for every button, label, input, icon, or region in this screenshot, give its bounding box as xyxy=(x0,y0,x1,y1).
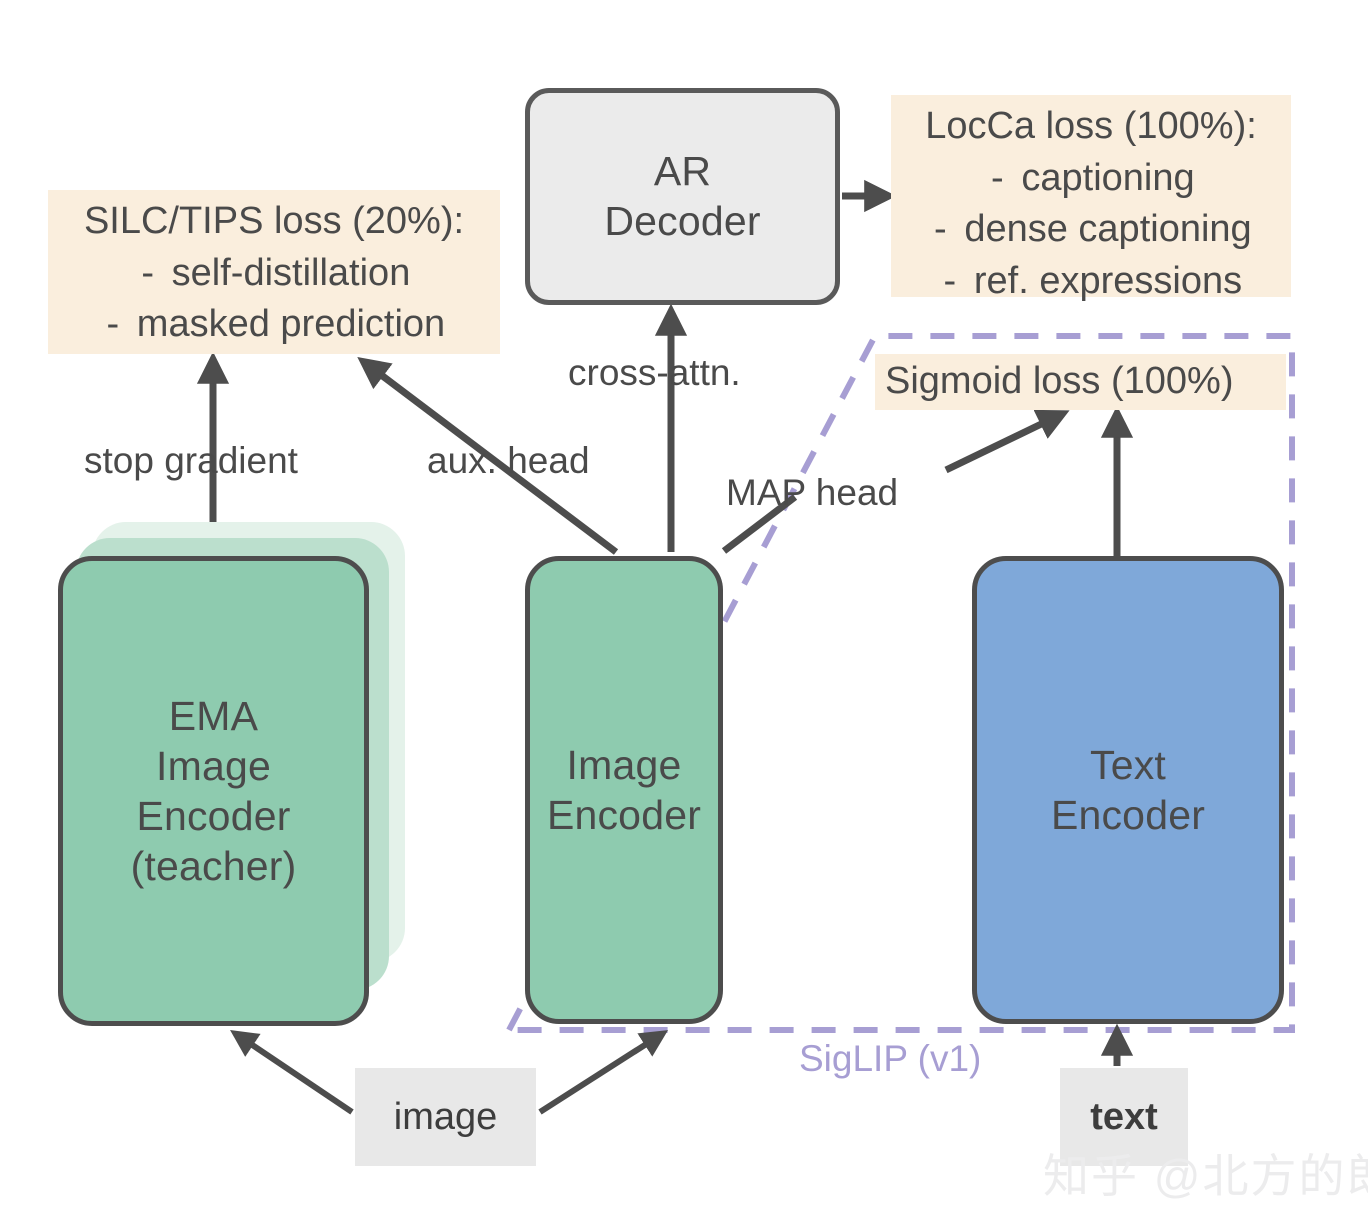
ema-image-encoder-line-0: EMA xyxy=(63,691,364,741)
edge-label-stop-gradient: stop gradient xyxy=(84,440,298,482)
ar-decoder-line-0: AR xyxy=(530,147,835,196)
silc-tips-loss-bullet-1: -masked prediction xyxy=(62,299,486,351)
silc-tips-loss-bullet-1-text: masked prediction xyxy=(137,303,445,345)
siglip-group-label: SigLIP (v1) xyxy=(799,1038,981,1080)
sigmoid-loss-box: Sigmoid loss (100%) xyxy=(875,354,1286,410)
bullet-dash-icon: - xyxy=(940,256,974,308)
arrow-map-head xyxy=(946,414,1062,470)
ar-decoder-line-1: Decoder xyxy=(530,197,835,246)
ar-decoder-block[interactable]: AR Decoder xyxy=(525,88,840,305)
ema-image-encoder-label: EMA Image Encoder (teacher) xyxy=(63,691,364,891)
image-encoder-block[interactable]: Image Encoder xyxy=(525,556,723,1024)
locca-loss-bullet-0: -captioning xyxy=(905,153,1277,205)
edge-label-cross-attn: cross-attn. xyxy=(568,352,741,394)
ar-decoder-label: AR Decoder xyxy=(530,147,835,245)
locca-loss-bullet-0-text: captioning xyxy=(1021,157,1194,199)
image-encoder-line-0: Image xyxy=(530,740,718,790)
edge-label-aux-head: aux. head xyxy=(427,440,590,482)
silc-tips-loss-title: SILC/TIPS loss (20%): xyxy=(62,196,486,248)
bullet-dash-icon: - xyxy=(138,248,172,300)
image-encoder-line-1: Encoder xyxy=(530,790,718,840)
locca-loss-bullet-2-text: ref. expressions xyxy=(974,260,1242,302)
ema-image-encoder-line-3: (teacher) xyxy=(63,841,364,891)
image-encoder-label: Image Encoder xyxy=(530,740,718,840)
ema-image-encoder-line-1: Image xyxy=(63,741,364,791)
locca-loss-box: LocCa loss (100%): -captioning -dense ca… xyxy=(891,95,1291,297)
locca-loss-bullet-1-text: dense captioning xyxy=(964,208,1251,250)
bullet-dash-icon: - xyxy=(930,204,964,256)
edge-label-map-head: MAP head xyxy=(726,472,898,514)
sigmoid-loss-title: Sigmoid loss (100%) xyxy=(885,356,1233,408)
silc-tips-loss-box: SILC/TIPS loss (20%): -self-distillation… xyxy=(48,190,500,354)
bullet-dash-icon: - xyxy=(987,153,1021,205)
ema-image-encoder-block[interactable]: EMA Image Encoder (teacher) xyxy=(58,556,369,1026)
locca-loss-bullet-2: -ref. expressions xyxy=(905,256,1277,308)
text-encoder-block[interactable]: Text Encoder xyxy=(972,556,1284,1024)
text-encoder-label: Text Encoder xyxy=(977,740,1279,840)
text-encoder-line-0: Text xyxy=(977,740,1279,790)
ema-image-encoder-line-2: Encoder xyxy=(63,791,364,841)
diagram-canvas: SILC/TIPS loss (20%): -self-distillation… xyxy=(0,0,1368,1212)
bullet-dash-icon: - xyxy=(103,299,137,351)
arrow-image-to-image-encoder xyxy=(540,1034,662,1112)
locca-loss-title: LocCa loss (100%): xyxy=(905,101,1277,153)
silc-tips-loss-bullet-0: -self-distillation xyxy=(62,248,486,300)
watermark: 知乎 @北方的郎 xyxy=(1043,1140,1368,1206)
arrow-image-to-ema-encoder xyxy=(236,1034,352,1112)
text-encoder-line-1: Encoder xyxy=(977,790,1279,840)
locca-loss-bullet-1: -dense captioning xyxy=(905,204,1277,256)
silc-tips-loss-bullet-0-text: self-distillation xyxy=(172,252,411,294)
image-input-chip[interactable]: image xyxy=(355,1068,536,1166)
